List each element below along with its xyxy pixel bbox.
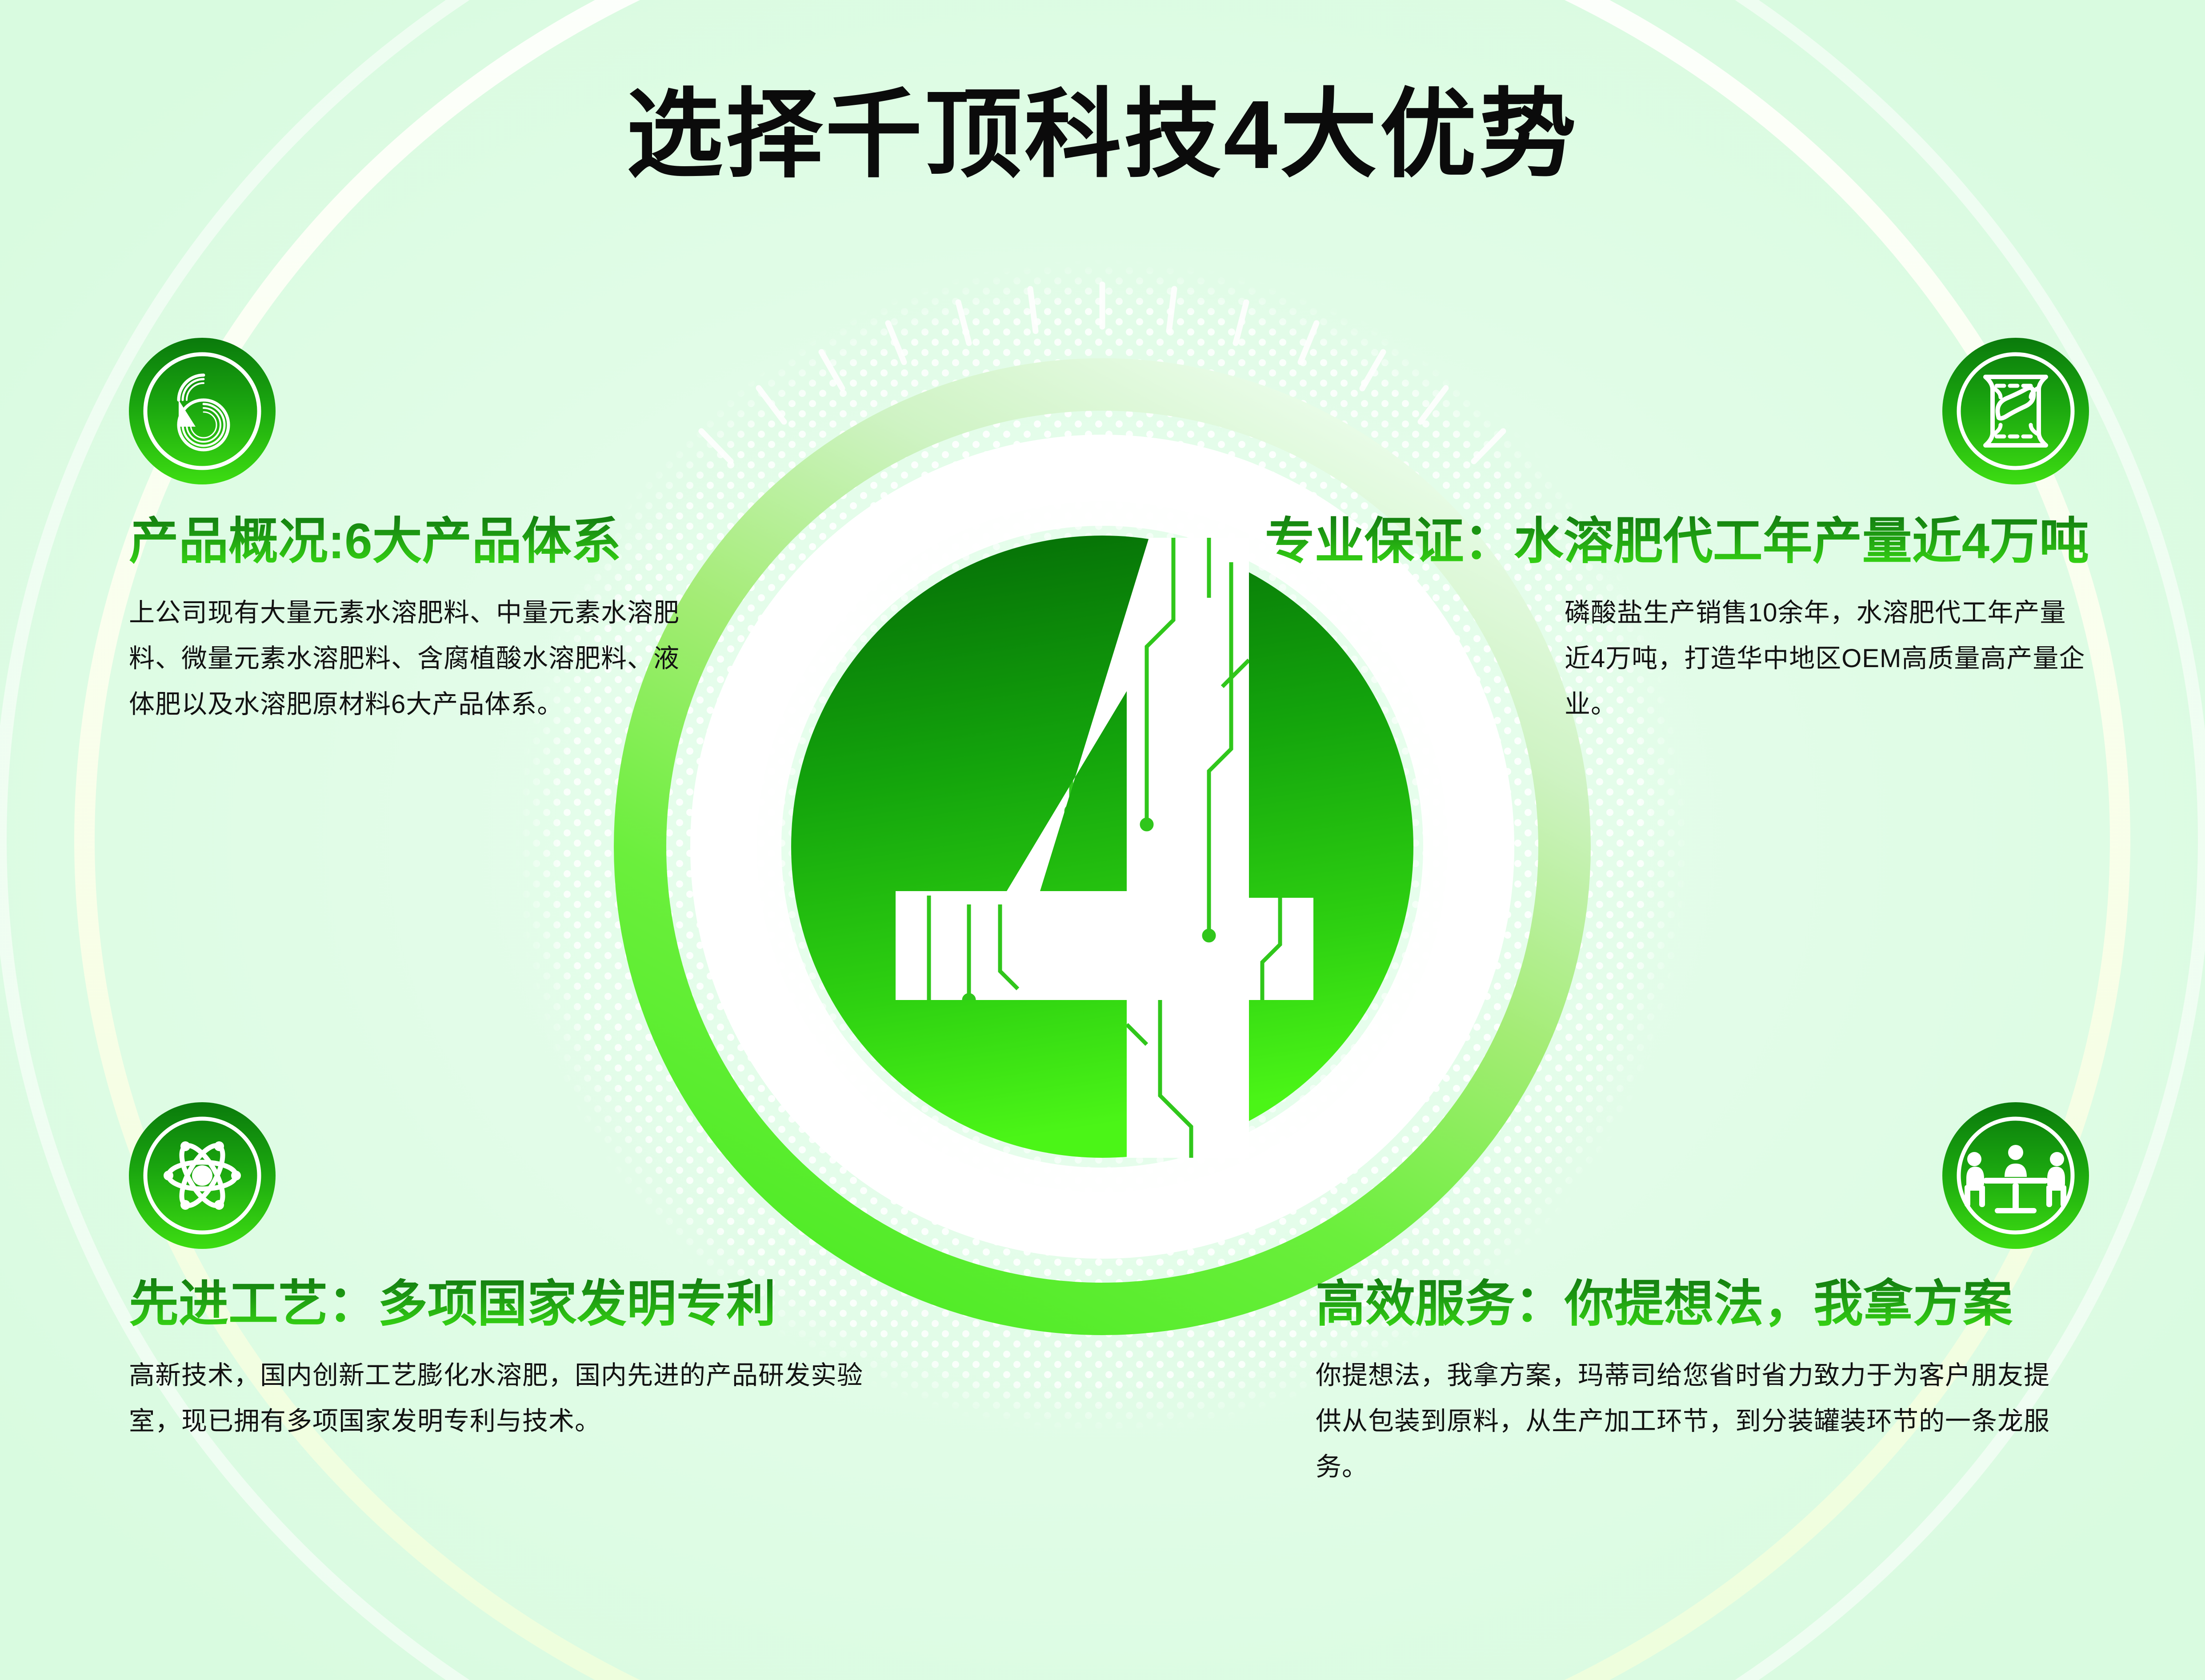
fertilizer-bag-icon [1942, 338, 2089, 484]
card-body-bottom-left: 高新技术，国内创新工艺膨化水溶肥，国内先进的产品研发实验室，现已拥有多项国家发明… [129, 1352, 884, 1444]
card-heading-top-left: 产品概况:6大产品体系 [129, 513, 707, 570]
meeting-table-icon [1942, 1102, 2089, 1249]
page-title: 选择千顶科技4大优势 [0, 87, 2205, 184]
atom-icon [129, 1102, 276, 1249]
card-body-top-right: 磷酸盐生产销售10余年，水溶肥代工年产量近4万吨，打造华中地区OEM高质量高产量… [1565, 590, 2089, 728]
advantage-card-top-right: 专业保证：水溶肥代工年产量近4万吨 磷酸盐生产销售10余年，水溶肥代工年产量近4… [1200, 338, 2089, 728]
advantage-card-bottom-left: 先进工艺：多项国家发明专利 高新技术，国内创新工艺膨化水溶肥，国内先进的产品研发… [129, 1102, 884, 1444]
infographic-canvas: 选择千顶科技4大优势 [0, 0, 2205, 1680]
number-six-rings-icon [129, 338, 276, 484]
card-body-bottom-right: 你提想法，我拿方案，玛蒂司给您省时省力致力于为客户朋友提供从包装到原料，从生产加… [1316, 1352, 2071, 1490]
card-heading-bottom-left: 先进工艺：多项国家发明专利 [129, 1276, 884, 1333]
advantage-card-bottom-right: 高效服务：你提想法，我拿方案 你提想法，我拿方案，玛蒂司给您省时省力致力于为客户… [1316, 1102, 2089, 1490]
card-body-top-left: 上公司现有大量元素水溶肥料、中量元素水溶肥料、微量元素水溶肥料、含腐植酸水溶肥料… [129, 590, 684, 728]
advantage-card-top-left: 产品概况:6大产品体系 上公司现有大量元素水溶肥料、中量元素水溶肥料、微量元素水… [129, 338, 707, 728]
card-heading-bottom-right: 高效服务：你提想法，我拿方案 [1316, 1276, 2089, 1333]
card-heading-top-right: 专业保证：水溶肥代工年产量近4万吨 [1200, 513, 2089, 570]
